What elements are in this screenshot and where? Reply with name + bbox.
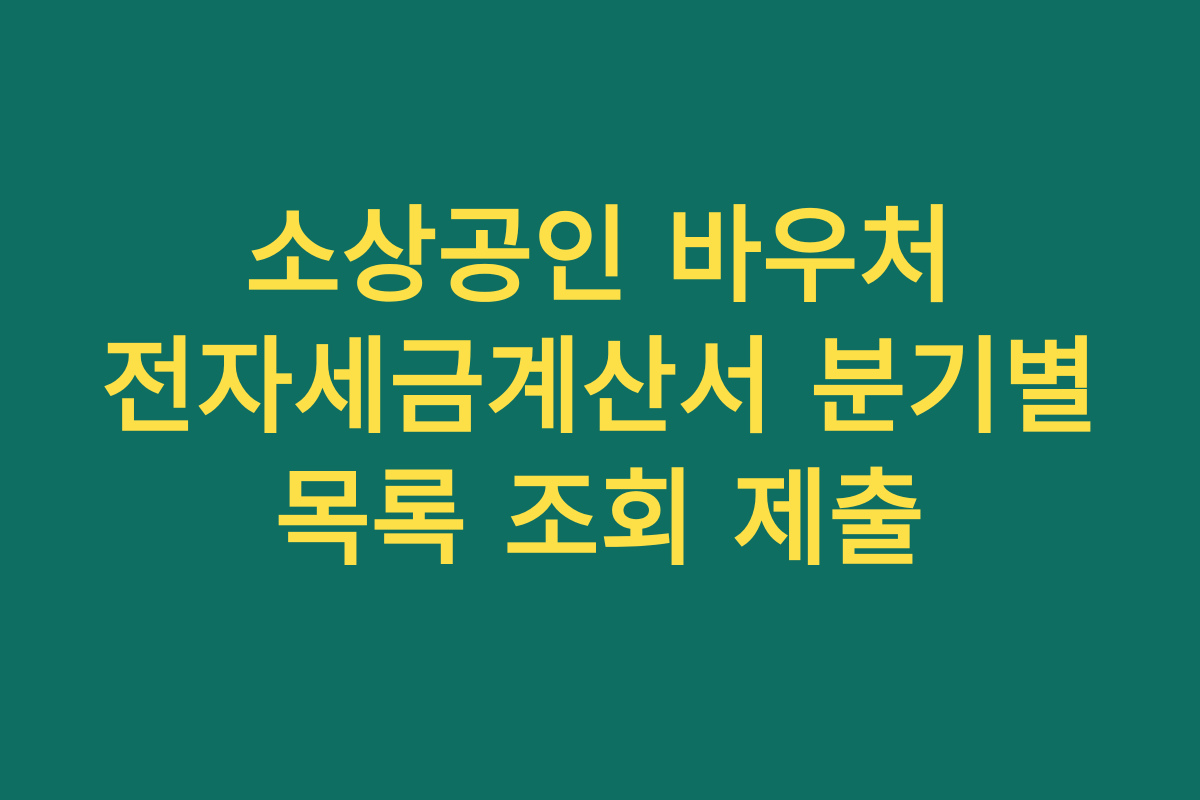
title-banner: 소상공인 바우처 전자세금계산서 분기별 목록 조회 제출 [0,0,1200,800]
page-title: 소상공인 바우처 전자세금계산서 분기별 목록 조회 제출 [96,191,1104,584]
